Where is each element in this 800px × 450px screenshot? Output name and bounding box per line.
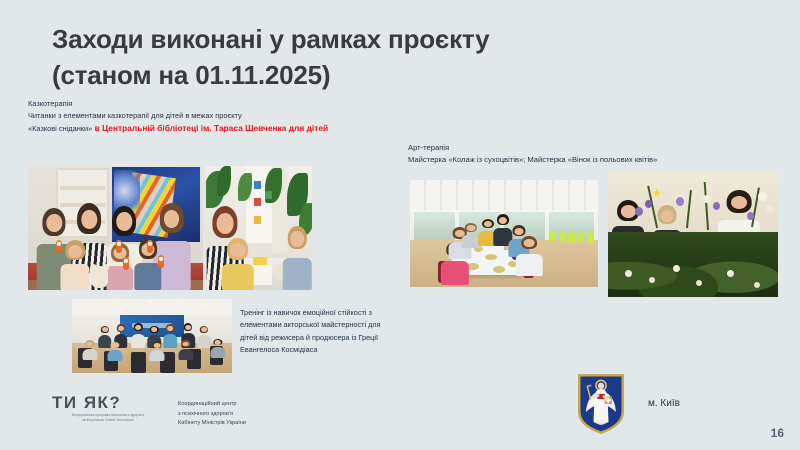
logo-ty-yak-subtitle: Всеукраїнська програма менального здоров… xyxy=(52,413,164,423)
kyiv-coat-of-arms-icon xyxy=(576,372,626,436)
coordination-center-label: Координаційний центр з психічного здоров… xyxy=(178,400,296,429)
page-title: Заходи виконані у рамках проєкту (станом… xyxy=(52,22,672,94)
caption-fairytale-line2-highlight: в Центральній бібліотеці ім. Тараса Шевч… xyxy=(92,123,328,133)
caption-art-line1: Майстерка «Колаж із сухоцвітів»; Майстер… xyxy=(408,154,798,166)
photo-emotional-resilience-training xyxy=(72,299,232,373)
logo-ty-yak-word: ТИ ЯК xyxy=(52,393,109,412)
caption-training: Тренінг із навичок емоційної стійкості з… xyxy=(240,307,392,357)
city-label: м. Київ xyxy=(648,398,680,409)
caption-fairytale-heading: Казкотерапія xyxy=(28,98,398,110)
question-mark-icon: ? xyxy=(109,394,121,411)
caption-fairytale-therapy: Казкотерапія Читанки з елементами казкот… xyxy=(28,98,398,136)
page-number: 16 xyxy=(771,426,784,440)
photo-craft-activity xyxy=(206,166,312,290)
logo-ty-yak: ТИ ЯК? Всеукраїнська програма менального… xyxy=(52,394,164,423)
photo-wildflower-wreath-workshop xyxy=(608,172,778,297)
slide-root: Заходи виконані у рамках проєкту (станом… xyxy=(0,0,800,450)
logo-ty-yak-wordmark: ТИ ЯК? xyxy=(52,394,164,411)
caption-fairytale-line2-plain: «Казкові сніданки» xyxy=(28,124,92,133)
caption-fairytale-line1: Читанки з елементами казкотерапії для ді… xyxy=(28,110,398,122)
photo-library-fairytale-reading xyxy=(28,166,203,290)
photo-dried-flower-collage-workshop xyxy=(410,180,598,287)
caption-art-therapy: Арт-терапія Майстерка «Колаж із сухоцвіт… xyxy=(408,142,798,167)
caption-art-heading: Арт-терапія xyxy=(408,142,798,154)
